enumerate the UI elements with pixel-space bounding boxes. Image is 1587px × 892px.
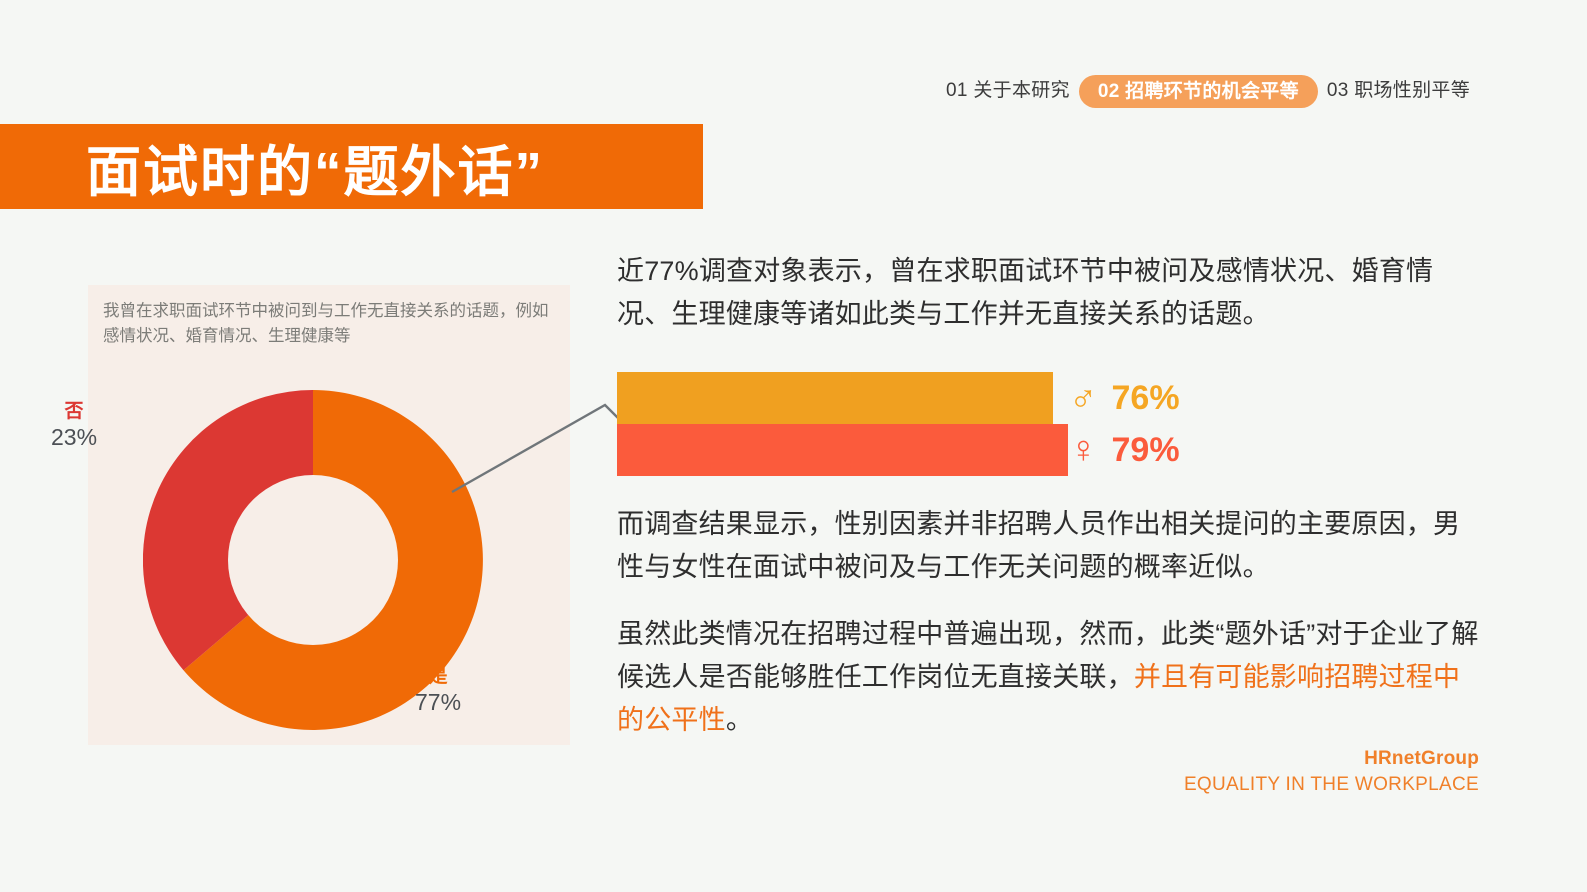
body-paragraph-second: 而调查结果显示，性别因素并非招聘人员作出相关提问的主要原因，男性与女性在面试中被… [617,503,1485,589]
page-title: 面试时的“题外话” [86,127,544,207]
nav-item-02-active[interactable]: 02 招聘环节的机会平等 [1079,75,1318,108]
donut-hole [228,475,398,645]
footer-tagline: EQUALITY IN THE WORKPLACE [1184,774,1479,796]
donut-label-yes-name: 是 [415,665,461,688]
donut-label-no-value: 23% [51,423,97,451]
bar-female [617,424,1068,476]
footer-brand: HRnetGroup [1184,748,1479,770]
body-paragraph-first: 近77%调查对象表示，曾在求职面试环节中被问及感情状况、婚育情况、生理健康等诸如… [617,250,1485,336]
donut-label-no: 否 23% [51,400,97,451]
third-tail-text: 。 [726,705,753,735]
bar-row-female: ♀ 79% [617,424,1217,476]
donut-label-yes-value: 77% [415,688,461,716]
bar-legend-male: ♂ 76% [1069,372,1180,424]
donut-label-no-name: 否 [51,400,97,423]
bar-value-female: 79% [1112,433,1180,467]
body-paragraph-third-wrap: 虽然此类情况在招聘过程中普遍出现，然而，此类“题外话”对于企业了解候选人是否能够… [617,613,1485,742]
body-paragraph-third: 虽然此类情况在招聘过程中普遍出现，然而，此类“题外话”对于企业了解候选人是否能够… [617,613,1485,742]
bar-row-male: ♂ 76% [617,372,1217,424]
bar-legend-female: ♀ 79% [1069,424,1180,476]
gender-bar-chart: ♂ 76% ♀ 79% [617,372,1217,476]
footer: HRnetGroup EQUALITY IN THE WORKPLACE [1184,748,1479,796]
female-icon: ♀ [1069,431,1098,469]
bar-male [617,372,1053,424]
top-navigation: 01 关于本研究 02 招聘环节的机会平等 03 职场性别平等 [937,74,1479,108]
chart-panel: 我曾在求职面试环节中被问到与工作无直接关系的话题，例如感情状况、婚育情况、生理健… [88,285,570,745]
donut-label-yes: 是 77% [415,665,461,716]
title-banner: 面试时的“题外话” [0,124,703,209]
body-paragraph-first-wrap: 近77%调查对象表示，曾在求职面试环节中被问及感情状况、婚育情况、生理健康等诸如… [617,250,1485,336]
male-icon: ♂ [1069,379,1098,417]
donut-chart: 否 23% 是 77% [143,390,483,730]
chart-caption: 我曾在求职面试环节中被问到与工作无直接关系的话题，例如感情状况、婚育情况、生理健… [103,299,558,349]
bar-value-male: 76% [1112,381,1180,415]
nav-item-03[interactable]: 03 职场性别平等 [1318,74,1479,108]
body-paragraph-second-wrap: 而调查结果显示，性别因素并非招聘人员作出相关提问的主要原因，男性与女性在面试中被… [617,503,1485,589]
nav-item-01[interactable]: 01 关于本研究 [937,74,1079,108]
